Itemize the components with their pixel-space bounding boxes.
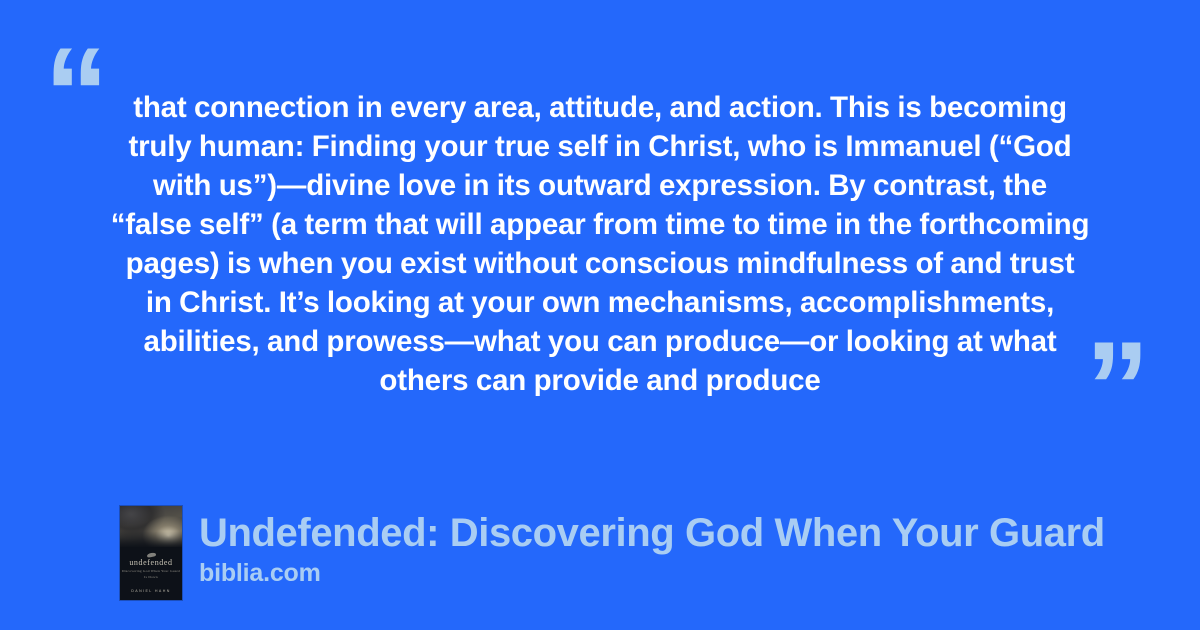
close-quote-icon: ” bbox=[1085, 322, 1148, 452]
book-cover-thumbnail: undefended Discovering God When Your Gua… bbox=[120, 506, 182, 600]
cover-author-text: DANIEL HAHN bbox=[120, 589, 182, 593]
quote-block: “ that connection in every area, attitud… bbox=[0, 46, 1200, 416]
cover-sky-art bbox=[120, 506, 182, 547]
attribution-text-group: Undefended: Discovering God When Your Gu… bbox=[199, 506, 1200, 588]
cover-subtitle-text: Discovering God When Your Guard Is Down bbox=[120, 568, 182, 580]
attribution-footer: undefended Discovering God When Your Gua… bbox=[120, 506, 1200, 602]
open-quote-icon: “ bbox=[44, 28, 107, 158]
cover-title-text: undefended bbox=[120, 558, 182, 567]
quote-text: that connection in every area, attitude,… bbox=[110, 88, 1090, 400]
quote-card: “ that connection in every area, attitud… bbox=[0, 0, 1200, 630]
book-title: Undefended: Discovering God When Your Gu… bbox=[199, 510, 1200, 556]
site-name: biblia.com bbox=[199, 558, 1200, 588]
